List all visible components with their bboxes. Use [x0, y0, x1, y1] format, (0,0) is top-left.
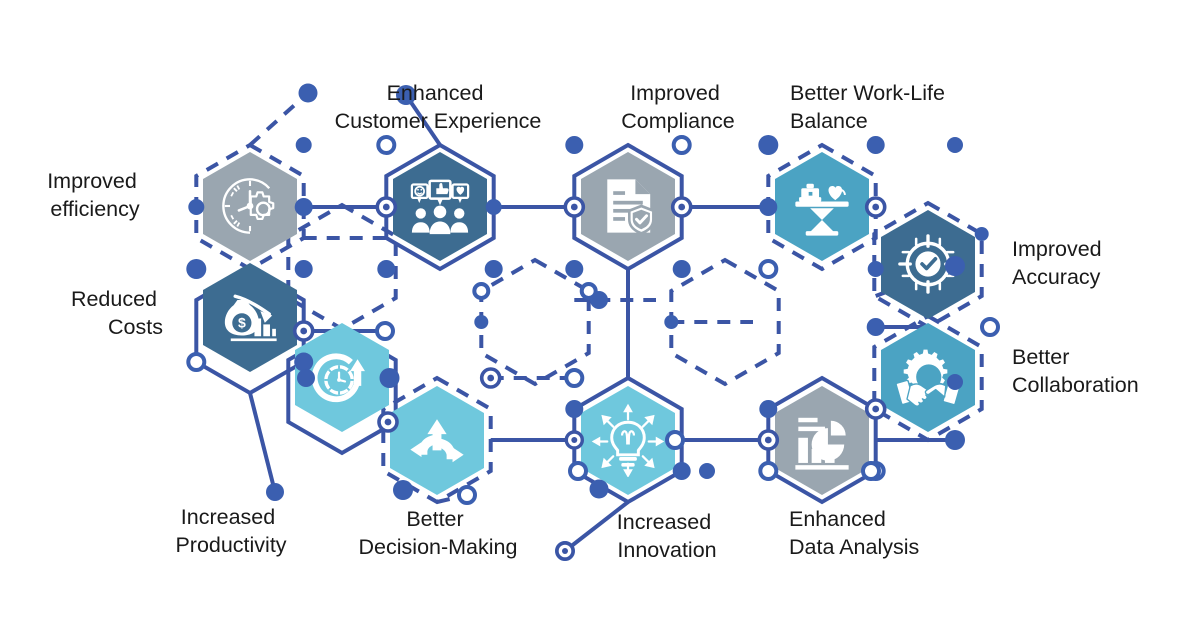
node-filled — [664, 315, 678, 329]
hex-enhanced-data-analysis[interactable] — [775, 386, 869, 495]
node-filled — [759, 198, 777, 216]
node-ringed — [557, 543, 573, 559]
node-filled — [380, 368, 400, 388]
label-reduced-costs: Reduced Costs — [71, 287, 163, 339]
node-ringed — [565, 198, 583, 216]
node-filled — [295, 198, 313, 216]
node-filled — [867, 136, 885, 154]
node-filled — [673, 462, 691, 480]
node-filled — [296, 137, 312, 153]
node-filled — [474, 315, 488, 329]
node-filled — [759, 400, 777, 418]
node-filled — [565, 136, 583, 154]
node-filled — [673, 260, 691, 278]
hex-better-decision-making[interactable] — [390, 386, 484, 495]
hex-increased-innovation[interactable] — [581, 386, 675, 495]
node-filled — [945, 256, 965, 276]
node-hollow — [863, 463, 879, 479]
empty-cell-2 — [481, 260, 588, 384]
node-ringed — [379, 413, 397, 431]
label-increased-productivity: Increased Productivity — [175, 505, 286, 557]
hex-improved-efficiency[interactable] — [203, 152, 297, 261]
node-ringed — [295, 322, 313, 340]
node-hollow — [760, 261, 776, 277]
label-better-collaboration: Better Collaboration — [1012, 345, 1139, 397]
node-filled — [565, 400, 583, 418]
node-filled — [299, 84, 318, 103]
label-improved-accuracy: Improved Accuracy — [1012, 237, 1108, 289]
label-better-work-life-balance: Better Work-Life Balance — [790, 81, 951, 133]
node-filled — [868, 261, 884, 277]
node-hollow — [474, 284, 488, 298]
node-filled — [565, 260, 583, 278]
node-filled — [266, 483, 284, 501]
node-ringed — [759, 431, 777, 449]
node-ringed — [867, 400, 885, 418]
node-filled — [188, 199, 204, 215]
node-filled — [758, 135, 778, 155]
node-hollow — [566, 370, 582, 386]
node-ringed — [566, 432, 582, 448]
node-hollow — [377, 323, 393, 339]
node-filled — [947, 137, 963, 153]
node-filled — [377, 260, 395, 278]
node-filled — [486, 199, 502, 215]
node-hollow — [570, 463, 586, 479]
node-filled — [867, 318, 885, 336]
node-filled — [297, 369, 315, 387]
label-improved-compliance: Improved Compliance — [621, 81, 735, 133]
node-filled — [186, 259, 206, 279]
label-better-decision-making: Better Decision-Making — [359, 507, 518, 559]
hex-better-work-life-balance[interactable] — [775, 152, 869, 261]
node-hollow — [760, 463, 776, 479]
node-filled — [975, 227, 989, 241]
node-filled — [945, 430, 965, 450]
honeycomb-diagram: $ — [0, 0, 1200, 628]
node-ringed — [867, 198, 885, 216]
hex-reduced-costs[interactable] — [203, 263, 297, 372]
node-filled — [393, 480, 413, 500]
joint-node-layer — [186, 84, 998, 560]
connector-layer — [196, 93, 981, 551]
label-increased-innovation: Increased Innovation — [617, 510, 717, 562]
infographic-canvas: $ — [0, 0, 1200, 628]
node-filled — [947, 374, 963, 390]
label-enhanced-customer-experience: Enhanced Customer Experience — [335, 81, 542, 133]
node-hollow — [667, 432, 683, 448]
node-ringed — [482, 369, 500, 387]
node-filled — [590, 480, 609, 499]
node-hollow — [582, 284, 596, 298]
node-hollow — [188, 354, 204, 370]
node-ringed — [673, 198, 691, 216]
hex-enhanced-customer-experience[interactable] — [393, 152, 487, 261]
node-hollow — [378, 137, 394, 153]
node-filled — [699, 463, 715, 479]
node-hollow — [674, 137, 690, 153]
node-filled — [294, 353, 313, 372]
label-enhanced-data-analysis: Enhanced Data Analysis — [789, 507, 919, 559]
node-ringed — [377, 198, 395, 216]
node-hollow — [982, 319, 998, 335]
node-hollow — [459, 487, 475, 503]
label-improved-efficiency: Improved efficiency — [47, 169, 143, 221]
node-filled — [485, 260, 503, 278]
node-filled — [295, 260, 313, 278]
lightbulb-arrows-icon — [594, 406, 662, 476]
hex-improved-compliance[interactable] — [581, 152, 675, 261]
